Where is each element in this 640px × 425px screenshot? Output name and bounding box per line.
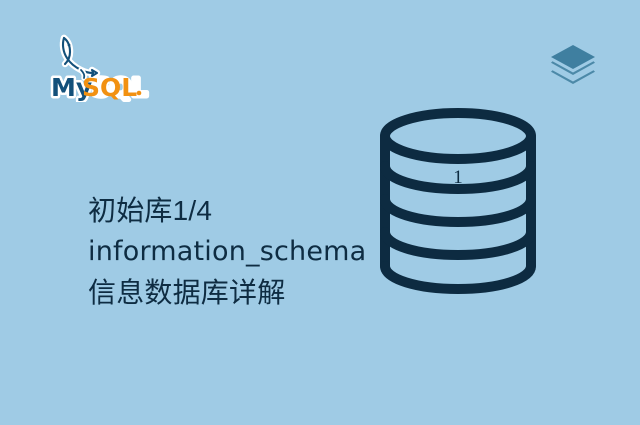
title-line-1: 初始库1/4 xyxy=(88,190,388,231)
mysql-wordmark: MySQL My SQL xyxy=(51,73,147,102)
database-cylinder-icon xyxy=(374,104,542,304)
dolphin-icon xyxy=(63,38,97,78)
stacked-layers-icon xyxy=(549,43,597,91)
page-title: 初始库1/4 information_schema 信息数据库详解 xyxy=(88,190,388,313)
title-line-2: information_schema xyxy=(88,231,388,272)
title-line-3: 信息数据库详解 xyxy=(88,272,388,313)
registered-dot-icon xyxy=(137,91,142,96)
mysql-wordmark-sql: SQL xyxy=(82,73,137,102)
mysql-logo: MySQL My SQL xyxy=(48,32,152,102)
cover-image-canvas: MySQL My SQL xyxy=(0,0,640,425)
